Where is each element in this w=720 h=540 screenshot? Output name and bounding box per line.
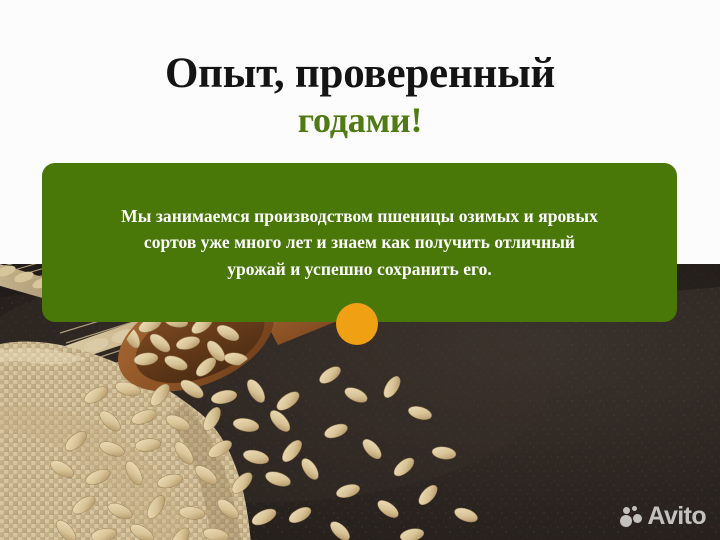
avito-brand-label: Avito xyxy=(647,504,706,529)
headline-line-accent: годами! xyxy=(0,102,720,139)
page-title: Опыт, проверенный годами! xyxy=(0,52,720,139)
avito-watermark: Avito xyxy=(620,504,706,529)
banner-canvas: Опыт, проверенный годами! Мы занимаемся … xyxy=(0,0,720,540)
description-text: Мы занимаемся производством пшеницы озим… xyxy=(115,203,605,283)
accent-dot-icon xyxy=(336,303,378,345)
description-card: Мы занимаемся производством пшеницы озим… xyxy=(42,163,677,322)
headline-line-primary: Опыт, проверенный xyxy=(0,52,720,96)
avito-logo-icon xyxy=(620,506,642,528)
